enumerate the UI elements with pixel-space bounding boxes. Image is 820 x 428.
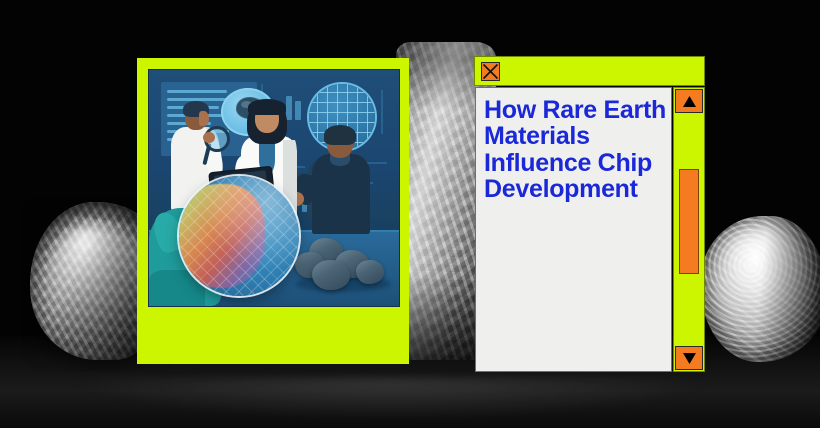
scroll-up-arrow-icon[interactable]	[675, 89, 703, 113]
circuit-trace	[381, 90, 383, 134]
floor-reflection	[70, 378, 710, 420]
scroll-down-arrow-icon[interactable]	[675, 346, 703, 370]
scientist-laptop-fringe	[248, 99, 286, 115]
page-title: How Rare Earth Materials Influence Chip …	[484, 97, 666, 202]
ore-rock	[356, 260, 384, 284]
illustration-card	[137, 58, 409, 364]
screenshot-stage: How Rare Earth Materials Influence Chip …	[0, 0, 820, 428]
engineer-suit	[312, 154, 370, 234]
scientist-magnifier-face	[199, 111, 209, 126]
lab-illustration	[148, 69, 400, 307]
window-body: How Rare Earth Materials Influence Chip …	[474, 87, 705, 372]
scrollbar-thumb[interactable]	[679, 169, 699, 274]
ore-rock-right	[700, 216, 820, 376]
article-content: How Rare Earth Materials Influence Chip …	[475, 87, 672, 372]
window-titlebar	[474, 56, 705, 86]
scrollbar-track[interactable]	[675, 114, 703, 345]
vertical-scrollbar[interactable]	[673, 87, 705, 372]
article-window: How Rare Earth Materials Influence Chip …	[474, 56, 705, 372]
engineer-hair	[324, 125, 356, 145]
scientist-magnifier-hand	[203, 132, 215, 143]
wall-bar	[286, 96, 292, 120]
panel-line	[167, 90, 227, 93]
close-icon[interactable]	[481, 62, 500, 81]
ore-rock	[312, 260, 350, 290]
wall-bar	[295, 101, 301, 120]
silicon-wafer	[179, 176, 299, 296]
